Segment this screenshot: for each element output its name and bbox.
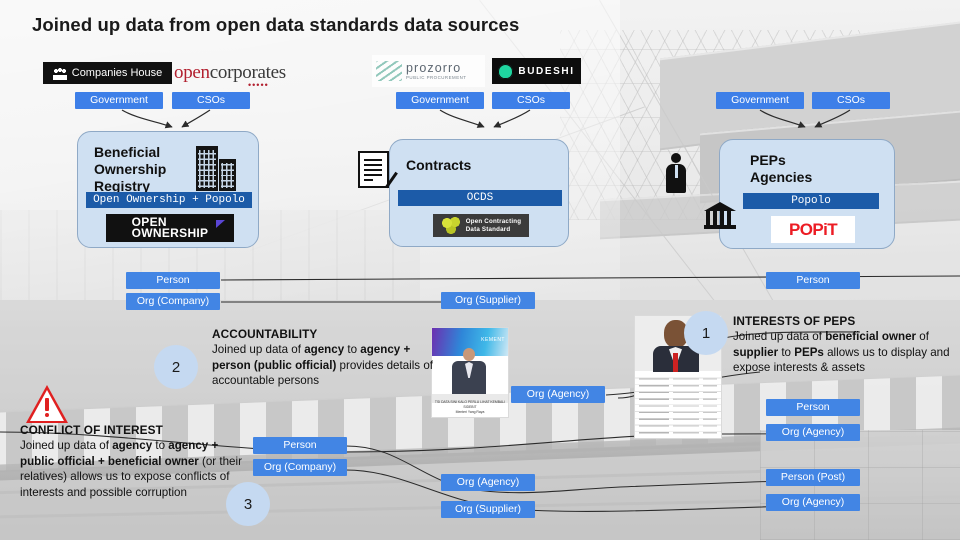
open-contracting-brand: Open Contracting Data Standard: [433, 214, 529, 237]
actor-chip-csos-middle[interactable]: CSOs: [492, 92, 570, 109]
open-ownership-brand-text: OPEN OWNERSHIP: [132, 217, 209, 240]
open-contracting-brand-text: Open Contracting Data Standard: [466, 218, 521, 233]
note-interests-of-peps: INTERESTS OF PEPS Joined up data of bene…: [733, 314, 955, 376]
chip-org-agency-a[interactable]: Org (Agency): [511, 386, 605, 403]
standard-bar-popolo: Popolo: [743, 193, 879, 209]
popit-brand-text: POPiT: [789, 220, 837, 240]
opencorporates-dots: •••••: [248, 80, 269, 90]
building-icon: [196, 146, 236, 191]
opencorporates-open: open: [174, 62, 210, 84]
card-beneficial-ownership-registry[interactable]: Beneficial Ownership Registry Open Owner…: [77, 131, 259, 248]
actor-chip-csos-right[interactable]: CSOs: [812, 92, 890, 109]
standard-bar-open-ownership-popolo: Open Ownership + Popolo: [86, 192, 252, 208]
chip-org-agency-d[interactable]: Org (Agency): [766, 494, 860, 511]
prozorro-subtitle: PUBLIC PROCUREMENT: [406, 76, 466, 80]
card-title-beneficial-ownership: Beneficial Ownership Registry: [94, 144, 166, 195]
photo-person-figure: [452, 348, 486, 400]
photo-banner-watermark: KEMENT: [481, 337, 505, 343]
note-conflict-body: Joined up data of agency to agency + pub…: [20, 439, 242, 498]
chip-person-d[interactable]: Person: [253, 437, 347, 454]
card-title-line-1: Beneficial: [94, 144, 160, 160]
prozorro-label: prozorro: [406, 62, 466, 75]
open-ownership-triangle-icon: [216, 220, 225, 228]
official-person-icon: [666, 153, 686, 193]
card-title-peps-agencies: PEPs Agencies: [750, 152, 812, 186]
chip-org-company-a[interactable]: Org (Company): [126, 293, 220, 310]
chip-person-b[interactable]: Person: [766, 272, 860, 289]
chip-org-supplier-a[interactable]: Org (Supplier): [441, 292, 535, 309]
ocds-line-2: Data Standard: [466, 226, 511, 233]
note-accountability: ACCOUNTABILITY Joined up data of agency …: [212, 327, 436, 389]
note-conflict-of-interest: CONFLICT OF INTEREST Joined up data of a…: [20, 423, 244, 500]
slide-canvas: Joined up data from open data standards …: [0, 0, 960, 540]
actor-chip-government-left[interactable]: Government: [75, 92, 163, 109]
official-photo-card-left: KEMENT TSI DATA SINI KALO PERLU LIHAT KE…: [431, 327, 509, 418]
step-number-2: 2: [154, 345, 198, 389]
budeshi-leaf-icon: [498, 64, 513, 79]
actor-chip-government-right[interactable]: Government: [716, 92, 804, 109]
peps-title-line-1: PEPs: [750, 152, 786, 168]
page-title: Joined up data from open data standards …: [32, 14, 519, 36]
popit-brand: POPiT: [771, 216, 855, 243]
budeshi-label: BUDESHI: [518, 66, 574, 77]
card-title-contracts: Contracts: [406, 157, 471, 174]
actor-chip-government-middle[interactable]: Government: [396, 92, 484, 109]
card-peps-agencies[interactable]: PEPs Agencies Popolo POPiT: [719, 139, 895, 249]
actor-chip-csos-left[interactable]: CSOs: [172, 92, 250, 109]
photo-caption: TSI DATA SINI KALO PERLU LIHAT KEMBALI S…: [434, 400, 506, 415]
card-contracts[interactable]: Contracts OCDS Open Contracting Data Sta…: [389, 139, 569, 247]
crown-icon: [53, 67, 67, 80]
pen-icon: [385, 172, 398, 188]
open-contracting-leaf-icon: [441, 217, 461, 235]
open-ownership-brand: OPEN OWNERSHIP: [106, 214, 234, 242]
warning-triangle-icon: [26, 385, 68, 423]
standard-bar-ocds: OCDS: [398, 190, 562, 206]
ocds-line-1: Open Contracting: [466, 218, 521, 225]
peps-title-line-2: Agencies: [750, 169, 812, 185]
companies-house-logo: Companies House: [43, 62, 172, 84]
chip-org-supplier-b[interactable]: Org (Supplier): [441, 501, 535, 518]
note-interests-heading: INTERESTS OF PEPS: [733, 314, 955, 329]
chip-person-a[interactable]: Person: [126, 272, 220, 289]
companies-house-label: Companies House: [72, 67, 163, 79]
asset-declaration-table: [635, 372, 721, 438]
chip-org-agency-c[interactable]: Org (Agency): [441, 474, 535, 491]
chip-person-post[interactable]: Person (Post): [766, 469, 860, 486]
note-interests-body: Joined up data of beneficial owner of su…: [733, 330, 950, 374]
card-title-line-2: Ownership: [94, 161, 166, 177]
open-ownership-line-2: OWNERSHIP: [132, 226, 209, 240]
bank-icon: [704, 202, 736, 230]
chip-org-agency-b[interactable]: Org (Agency): [766, 424, 860, 441]
step-number-1: 1: [684, 311, 728, 355]
chip-person-c[interactable]: Person: [766, 399, 860, 416]
document-icon: [358, 151, 389, 188]
note-accountability-heading: ACCOUNTABILITY: [212, 327, 436, 342]
chip-org-company-b[interactable]: Org (Company): [253, 459, 347, 476]
prozorro-logo: prozorro PUBLIC PROCUREMENT: [372, 55, 485, 87]
note-accountability-body: Joined up data of agency to agency + per…: [212, 343, 433, 387]
opencorporates-logo: opencorporates: [174, 60, 290, 86]
prozorro-mark-icon: [376, 61, 402, 81]
note-conflict-heading: CONFLICT OF INTEREST: [20, 423, 244, 438]
budeshi-logo: BUDESHI: [492, 58, 581, 84]
